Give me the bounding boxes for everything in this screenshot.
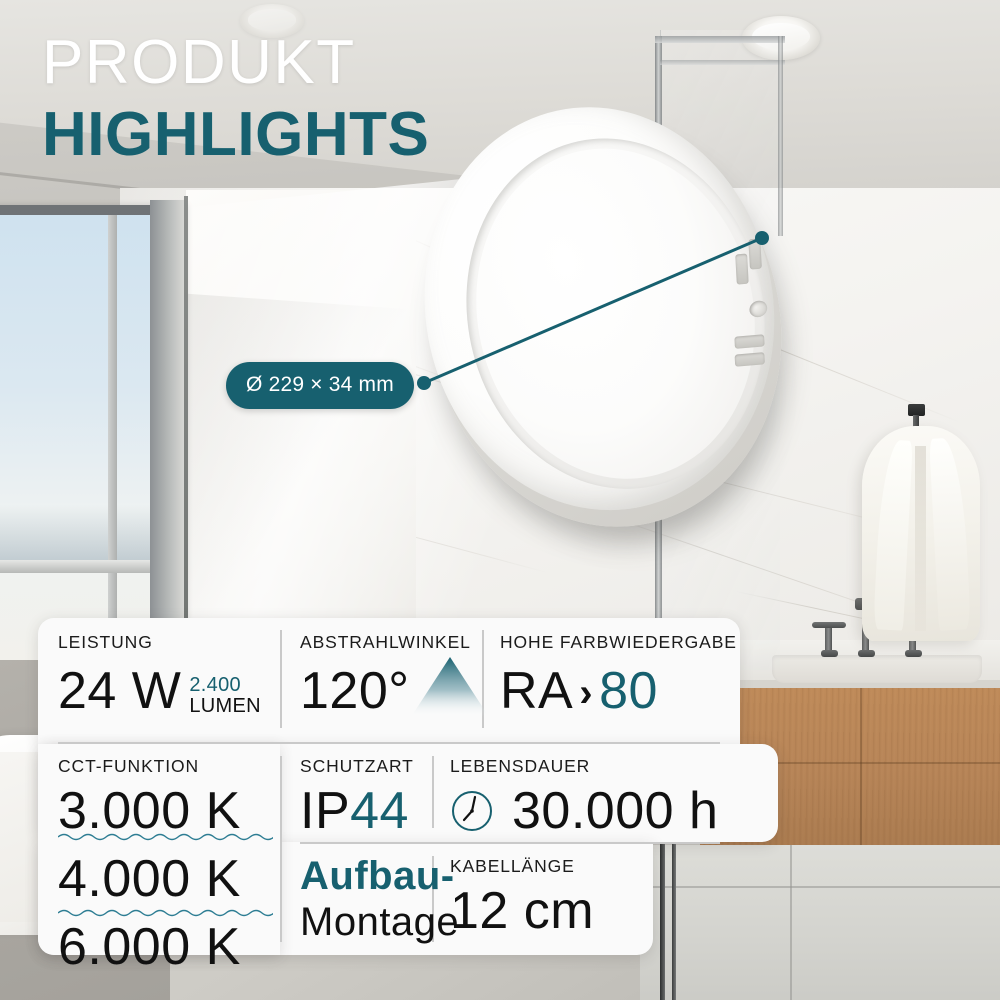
vanity-seam [860, 688, 862, 868]
title-line-1: PRODUKT [42, 32, 429, 94]
divider-horizontal [58, 742, 720, 744]
spec-leistung-value-row: 24 W 2.400 LUMEN [58, 665, 261, 717]
divider-vertical [280, 756, 282, 942]
faucet-base [821, 650, 838, 657]
window-mullion [108, 215, 117, 665]
vent-slot [735, 352, 765, 367]
panel-housing [376, 59, 823, 559]
spec-lebensdauer-caption: LEBENSDAUER [450, 756, 718, 777]
spec-schutzart: SCHUTZART IP 44 [300, 756, 414, 837]
ra-value: 80 [599, 665, 658, 717]
window-reveal [150, 200, 186, 678]
beam-triangle-icon [411, 655, 489, 717]
wave-separator [58, 832, 273, 842]
spec-kabellaenge-value: 12 cm [450, 885, 594, 937]
product-highlight-banner: Ø 229 × 34 mm PRODUKT HIGHLIGHTS LEISTUN… [0, 0, 1000, 1000]
spec-kabellaenge-caption: KABELLÄNGE [450, 856, 594, 877]
window-jamb [184, 196, 188, 682]
window-glass [0, 215, 150, 665]
ip-value: 44 [350, 785, 409, 837]
spec-lebensdauer: LEBENSDAUER 30.000 h [450, 756, 718, 837]
tiled-floor [640, 845, 1000, 1000]
clock-icon [450, 789, 494, 833]
faucet-base [905, 650, 922, 657]
spec-schutzart-caption: SCHUTZART [300, 756, 414, 777]
faucet-base [858, 650, 875, 657]
ip-prefix: IP [300, 785, 350, 837]
spec-kabellaenge: KABELLÄNGE 12 cm [450, 856, 594, 937]
wave-separator [58, 908, 273, 918]
spec-leistung-lumen: 2.400 LUMEN [189, 675, 261, 717]
spec-lebensdauer-value-row: 30.000 h [450, 785, 718, 837]
spec-cct-value-2: 4.000 K [58, 853, 241, 905]
robe-center-fold [915, 446, 926, 631]
divider-vertical [280, 630, 282, 728]
lumen-unit: LUMEN [189, 696, 261, 717]
vent-slot [734, 334, 764, 349]
dimension-badge: Ø 229 × 34 mm [226, 362, 414, 409]
window-view [0, 505, 150, 563]
window-transom [0, 560, 155, 573]
spec-montage: Aufbau- Montage [300, 856, 459, 942]
page-title: PRODUKT HIGHLIGHTS [42, 32, 429, 171]
sink-basin [772, 655, 982, 683]
spec-lebensdauer-value: 30.000 h [512, 785, 718, 837]
glass-partition-rail [655, 36, 785, 43]
lumen-number: 2.400 [189, 674, 241, 696]
spec-farbwiedergabe: HOHE FARBWIEDERGABE RA › 80 [500, 632, 737, 717]
ra-operator: › [579, 673, 593, 713]
divider-vertical [432, 756, 434, 828]
ra-prefix: RA [500, 665, 573, 717]
spec-schutzart-value: IP 44 [300, 785, 414, 837]
divider-horizontal [300, 842, 720, 844]
title-line-2: HIGHLIGHTS [42, 98, 429, 171]
spec-cct: CCT-FUNKTION 3.000 K 4.000 K 6.000 K [58, 756, 241, 973]
spec-cct-value-1: 3.000 K [58, 785, 241, 837]
spec-cct-caption: CCT-FUNKTION [58, 756, 241, 777]
vent-slot [748, 238, 762, 269]
spec-leistung: LEISTUNG 24 W 2.400 LUMEN [58, 632, 261, 717]
spec-farbwiedergabe-value: RA › 80 [500, 665, 737, 717]
vent-slot [735, 253, 749, 284]
spec-leistung-caption: LEISTUNG [58, 632, 261, 653]
floor-tile-line [790, 845, 792, 1000]
spec-cct-value-3: 6.000 K [58, 921, 241, 973]
faucet-stem [825, 628, 832, 650]
led-panel-product [418, 95, 798, 565]
floor-tile-line [640, 886, 1000, 888]
spec-farbwiedergabe-caption: HOHE FARBWIEDERGABE [500, 632, 737, 653]
spec-abstrahlwinkel-caption: ABSTRAHLWINKEL [300, 632, 471, 653]
spec-leistung-value: 24 W [58, 665, 181, 717]
spec-montage-line-2: Montage [300, 902, 459, 942]
spec-montage-line-1: Aufbau- [300, 856, 459, 896]
